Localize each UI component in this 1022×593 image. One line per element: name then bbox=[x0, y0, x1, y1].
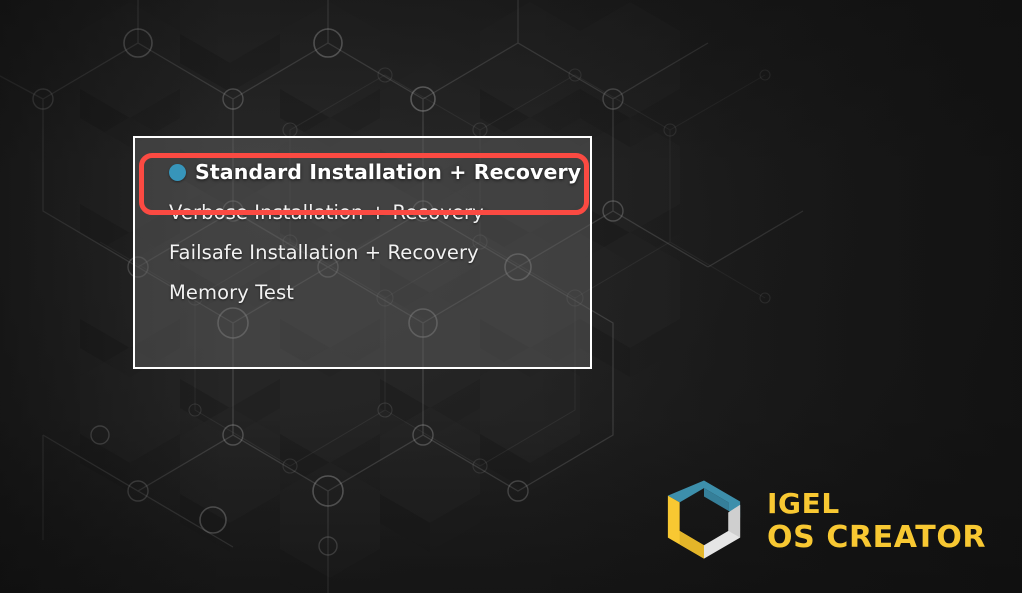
boot-menu-list: Standard Installation + Recovery Verbose… bbox=[135, 138, 590, 367]
menu-item-verbose-installation[interactable]: Verbose Installation + Recovery bbox=[135, 192, 590, 232]
brand-name: IGEL bbox=[767, 489, 986, 518]
radio-bullet-icon bbox=[169, 164, 186, 181]
menu-item-memory-test[interactable]: Memory Test bbox=[135, 272, 590, 312]
menu-item-standard-installation[interactable]: Standard Installation + Recovery bbox=[135, 152, 590, 192]
menu-item-label: Verbose Installation + Recovery bbox=[169, 201, 484, 224]
brand-product-name: OS CREATOR bbox=[767, 522, 986, 554]
menu-item-label: Memory Test bbox=[169, 281, 294, 304]
menu-item-label: Failsafe Installation + Recovery bbox=[169, 241, 479, 264]
menu-item-failsafe-installation[interactable]: Failsafe Installation + Recovery bbox=[135, 232, 590, 272]
boot-screen: Standard Installation + Recovery Verbose… bbox=[0, 0, 1022, 593]
brand-wordmark: IGEL OS CREATOR bbox=[767, 489, 986, 554]
boot-menu-panel: Standard Installation + Recovery Verbose… bbox=[133, 136, 592, 369]
menu-item-label: Standard Installation + Recovery bbox=[195, 160, 581, 184]
brand-lockup: IGEL OS CREATOR bbox=[662, 478, 986, 564]
igel-hexagon-logo-icon bbox=[662, 478, 746, 564]
